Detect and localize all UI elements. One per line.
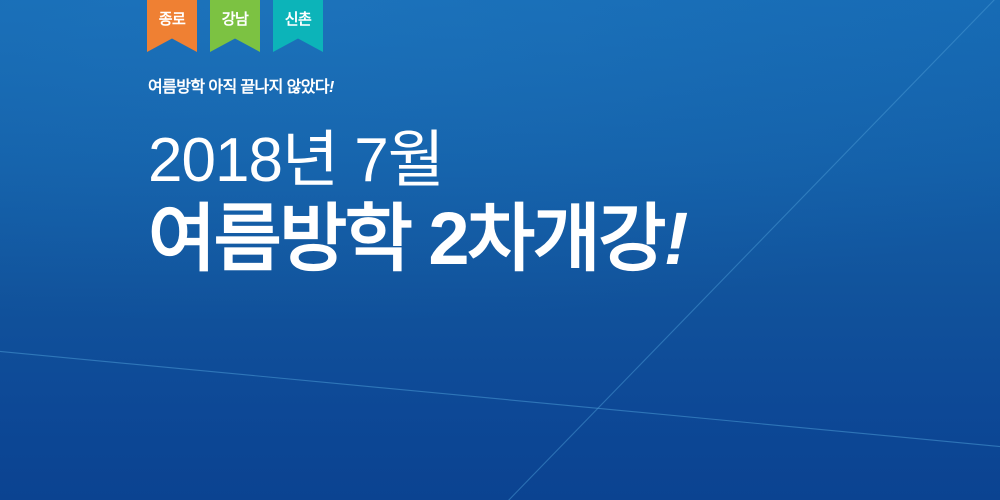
banner-eyebrow: 여름방학 아직 끝나지 않았다! <box>148 80 686 96</box>
ribbon-jongno[interactable]: 종로 <box>147 0 197 52</box>
ribbon-gangnam[interactable]: 강남 <box>210 0 260 52</box>
banner-eyebrow-text: 여름방학 아직 끝나지 않았다 <box>148 79 329 96</box>
ribbon-jongno-label: 종로 <box>159 12 186 27</box>
banner-headline-main-exclamation: ! <box>664 197 686 280</box>
banner-headline-main-text: 여름방학 2차개강 <box>148 197 664 280</box>
campus-ribbon-group: 종로 강남 신촌 <box>147 0 323 52</box>
banner-headline-date: 2018년 7월 <box>148 130 686 192</box>
ribbon-gangnam-label: 강남 <box>222 12 249 27</box>
ribbon-sinchon-label: 신촌 <box>285 12 312 27</box>
banner-copy-block: 여름방학 아직 끝나지 않았다! 2018년 7월 여름방학 2차개강! <box>148 80 686 276</box>
ribbon-sinchon[interactable]: 신촌 <box>273 0 323 52</box>
banner-eyebrow-exclamation: ! <box>329 79 334 96</box>
diagonal-line-shallow <box>0 351 1000 447</box>
banner-headline-main: 여름방학 2차개강! <box>148 202 686 276</box>
promo-banner: 종로 강남 신촌 여름방학 아직 끝나지 않았다! 2018년 7월 여름방학 … <box>0 0 1000 500</box>
